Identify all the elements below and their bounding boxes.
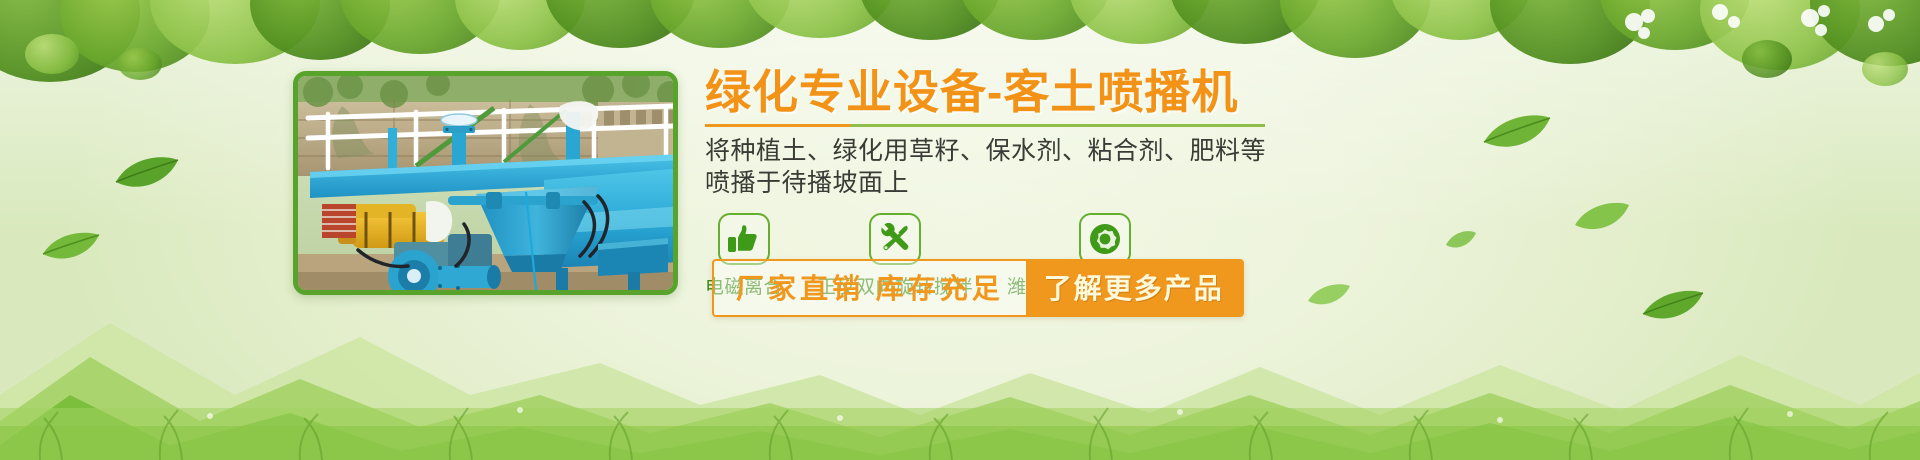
thumbs-up-icon (728, 224, 760, 254)
floating-leaf-icon (112, 152, 182, 194)
floating-leaf-icon (1444, 228, 1478, 252)
gear-icon (1088, 222, 1122, 256)
feature-icon-box (1079, 213, 1131, 265)
feature-icon-box (869, 213, 921, 265)
page-title: 绿化专业设备-客土喷播机 (705, 68, 1425, 116)
banner-description: 将种植土、绿化用草籽、保水剂、粘合剂、肥料等 喷播于待播坡面上 (705, 136, 1425, 199)
product-photo-frame[interactable] (293, 71, 678, 295)
learn-more-button[interactable]: 了解更多产品 (1026, 261, 1242, 315)
blossom-decoration (1600, 2, 1900, 72)
floating-leaf-icon (1480, 110, 1554, 154)
feature-icon-box (718, 213, 770, 265)
floating-leaf-icon (1640, 286, 1706, 326)
promo-banner: 绿化专业设备-客土喷播机 将种植土、绿化用草籽、保水剂、粘合剂、肥料等 喷播于待… (0, 0, 1920, 460)
title-divider (705, 124, 1265, 127)
description-line-1: 将种植土、绿化用草籽、保水剂、粘合剂、肥料等 (705, 136, 1425, 168)
floating-leaf-icon (40, 228, 102, 266)
cta-slogan: 厂家直销 库存充足 (714, 261, 1026, 315)
grass-decoration (0, 364, 1920, 460)
description-line-2: 喷播于待播坡面上 (705, 168, 1425, 200)
hydroseeder-machine-illustration (298, 76, 673, 290)
cta-bar: 厂家直销 库存充足 了解更多产品 (712, 259, 1244, 317)
floating-leaf-icon (1572, 198, 1632, 236)
product-photo (298, 76, 673, 290)
tools-icon (879, 223, 911, 255)
